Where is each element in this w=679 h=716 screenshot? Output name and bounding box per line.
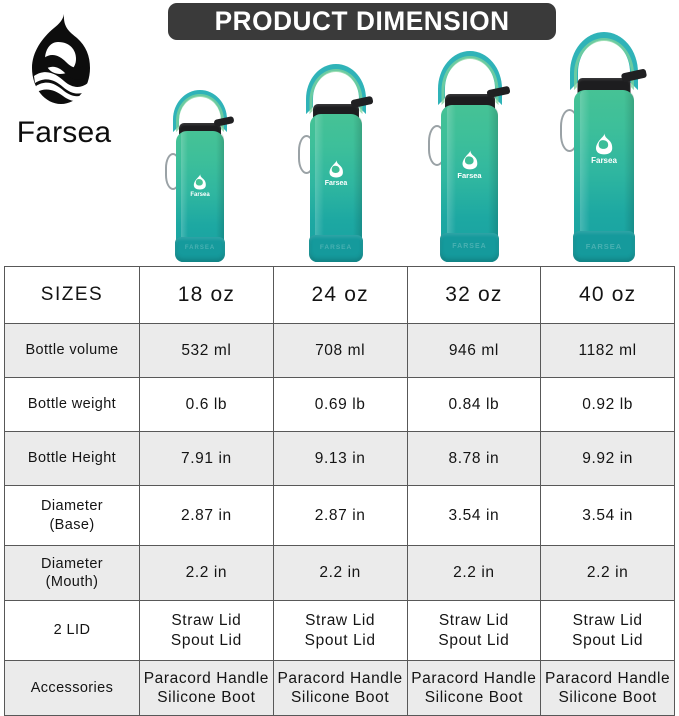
cell-value-line2: Silicone Boot bbox=[544, 688, 671, 707]
cell-value: 0.6 lb bbox=[140, 378, 274, 432]
bottle-drop-icon bbox=[462, 149, 478, 170]
cell-value: 2.87 in bbox=[273, 486, 407, 546]
bottle-drop-icon bbox=[193, 173, 206, 190]
row-label-line1: Diameter bbox=[8, 497, 136, 515]
header-cell-18oz: 18 oz bbox=[140, 267, 274, 324]
bottle-logo-text: Farsea bbox=[190, 192, 209, 198]
bottle-logo: Farsea bbox=[591, 132, 617, 165]
cell-value: Paracord Handle Silicone Boot bbox=[541, 661, 675, 716]
row-label: Accessories bbox=[5, 661, 140, 716]
row-label: Bottle weight bbox=[5, 378, 140, 432]
header-cell-40oz: 40 oz bbox=[541, 267, 675, 324]
cell-value: 0.92 lb bbox=[541, 378, 675, 432]
cell-value: 9.13 in bbox=[273, 432, 407, 486]
cell-value-line1: Straw Lid bbox=[411, 611, 538, 630]
cell-value-line1: Paracord Handle bbox=[411, 669, 538, 688]
bottle-logo-text: Farsea bbox=[457, 172, 481, 180]
cell-value: Paracord Handle Silicone Boot bbox=[407, 661, 541, 716]
bottle-body: Farsea FARSEA bbox=[176, 131, 224, 262]
table-row-2-lid: 2 LID Straw Lid Spout Lid Straw Lid Spou… bbox=[5, 601, 675, 661]
cell-value-line1: Paracord Handle bbox=[277, 669, 404, 688]
silicone-boot: FARSEA bbox=[175, 237, 225, 262]
cell-value: 708 ml bbox=[273, 324, 407, 378]
bottle-drop-icon bbox=[328, 159, 343, 178]
cell-value-line1: Straw Lid bbox=[143, 611, 270, 630]
bottle-logo: Farsea bbox=[325, 159, 348, 187]
product-bottle-40oz: Farsea FARSEA bbox=[574, 46, 634, 262]
cell-value: 3.54 in bbox=[407, 486, 541, 546]
bottle-logo: Farsea bbox=[190, 173, 209, 198]
bottle-logo-text: Farsea bbox=[325, 180, 348, 187]
cell-value: 0.69 lb bbox=[273, 378, 407, 432]
row-label: 2 LID bbox=[5, 601, 140, 661]
table-row-bottle-height: Bottle Height 7.91 in 9.13 in 8.78 in 9.… bbox=[5, 432, 675, 486]
cell-value-line2: Silicone Boot bbox=[143, 688, 270, 707]
cell-value: 7.91 in bbox=[140, 432, 274, 486]
page-title: PRODUCT DIMENSION bbox=[214, 6, 509, 37]
boot-emboss-text: FARSEA bbox=[175, 245, 225, 251]
boot-emboss-text: FARSEA bbox=[573, 242, 635, 251]
row-label-line1: Diameter bbox=[8, 555, 136, 573]
cell-value: 9.92 in bbox=[541, 432, 675, 486]
cell-value-line2: Silicone Boot bbox=[411, 688, 538, 707]
table-row-bottle-volume: Bottle volume 532 ml 708 ml 946 ml 1182 … bbox=[5, 324, 675, 378]
bottle-body: Farsea FARSEA bbox=[574, 90, 634, 262]
bottle-logo: Farsea bbox=[457, 149, 481, 180]
row-label: Diameter (Base) bbox=[5, 486, 140, 546]
page-title-banner: PRODUCT DIMENSION bbox=[168, 3, 556, 40]
cell-value: 946 ml bbox=[407, 324, 541, 378]
silicone-boot: FARSEA bbox=[309, 235, 363, 262]
cell-value: 2.2 in bbox=[273, 546, 407, 601]
table-row-diameter-mouth: Diameter (Mouth) 2.2 in 2.2 in 2.2 in 2.… bbox=[5, 546, 675, 601]
product-dimension-table: SIZES 18 oz 24 oz 32 oz 40 oz Bottle vol… bbox=[4, 266, 675, 716]
cell-value-line2: Spout Lid bbox=[544, 631, 671, 650]
silicone-boot: FARSEA bbox=[573, 231, 635, 262]
cell-value: Straw Lid Spout Lid bbox=[140, 601, 274, 661]
cell-value-line1: Straw Lid bbox=[277, 611, 404, 630]
table-row-accessories: Accessories Paracord Handle Silicone Boo… bbox=[5, 661, 675, 716]
cell-value: Straw Lid Spout Lid bbox=[541, 601, 675, 661]
cell-value-line2: Spout Lid bbox=[411, 631, 538, 650]
boot-emboss-text: FARSEA bbox=[309, 244, 363, 251]
product-bottle-32oz: Farsea FARSEA bbox=[441, 62, 498, 262]
cell-value-line1: Paracord Handle bbox=[544, 669, 671, 688]
row-label: Bottle volume bbox=[5, 324, 140, 378]
cell-value-line2: Silicone Boot bbox=[277, 688, 404, 707]
header-cell-24oz: 24 oz bbox=[273, 267, 407, 324]
row-label-line2: (Base) bbox=[8, 516, 136, 534]
row-label: Diameter (Mouth) bbox=[5, 546, 140, 601]
cell-value: Straw Lid Spout Lid bbox=[273, 601, 407, 661]
cell-value-line1: Straw Lid bbox=[544, 611, 671, 630]
cell-value: 2.87 in bbox=[140, 486, 274, 546]
header-cell-32oz: 32 oz bbox=[407, 267, 541, 324]
table-row-bottle-weight: Bottle weight 0.6 lb 0.69 lb 0.84 lb 0.9… bbox=[5, 378, 675, 432]
product-bottle-24oz: Farsea FARSEA bbox=[310, 72, 362, 262]
cell-value-line2: Spout Lid bbox=[143, 631, 270, 650]
product-bottle-18oz: Farsea FARSEA bbox=[176, 94, 224, 262]
product-image-strip: Farsea FARSEA Farsea FARSEA bbox=[0, 44, 679, 262]
bottle-logo-text: Farsea bbox=[591, 157, 617, 165]
cell-value: 3.54 in bbox=[541, 486, 675, 546]
bottle-body: Farsea FARSEA bbox=[310, 114, 362, 262]
bottle-body: Farsea FARSEA bbox=[441, 105, 498, 262]
cell-value-line1: Paracord Handle bbox=[143, 669, 270, 688]
cell-value: 2.2 in bbox=[140, 546, 274, 601]
bottle-drop-icon bbox=[595, 132, 613, 155]
cell-value: 2.2 in bbox=[407, 546, 541, 601]
row-label: Bottle Height bbox=[5, 432, 140, 486]
cell-value: 2.2 in bbox=[541, 546, 675, 601]
cell-value: Straw Lid Spout Lid bbox=[407, 601, 541, 661]
table-header-row: SIZES 18 oz 24 oz 32 oz 40 oz bbox=[5, 267, 675, 324]
silicone-boot: FARSEA bbox=[440, 233, 499, 262]
boot-emboss-text: FARSEA bbox=[440, 243, 499, 250]
table-row-diameter-base: Diameter (Base) 2.87 in 2.87 in 3.54 in … bbox=[5, 486, 675, 546]
cell-value: Paracord Handle Silicone Boot bbox=[140, 661, 274, 716]
row-label-line2: (Mouth) bbox=[8, 573, 136, 591]
cell-value: 8.78 in bbox=[407, 432, 541, 486]
cell-value: 0.84 lb bbox=[407, 378, 541, 432]
cell-value: Paracord Handle Silicone Boot bbox=[273, 661, 407, 716]
cell-value: 1182 ml bbox=[541, 324, 675, 378]
cell-value-line2: Spout Lid bbox=[277, 631, 404, 650]
header-cell-sizes: SIZES bbox=[5, 267, 140, 324]
cell-value: 532 ml bbox=[140, 324, 274, 378]
